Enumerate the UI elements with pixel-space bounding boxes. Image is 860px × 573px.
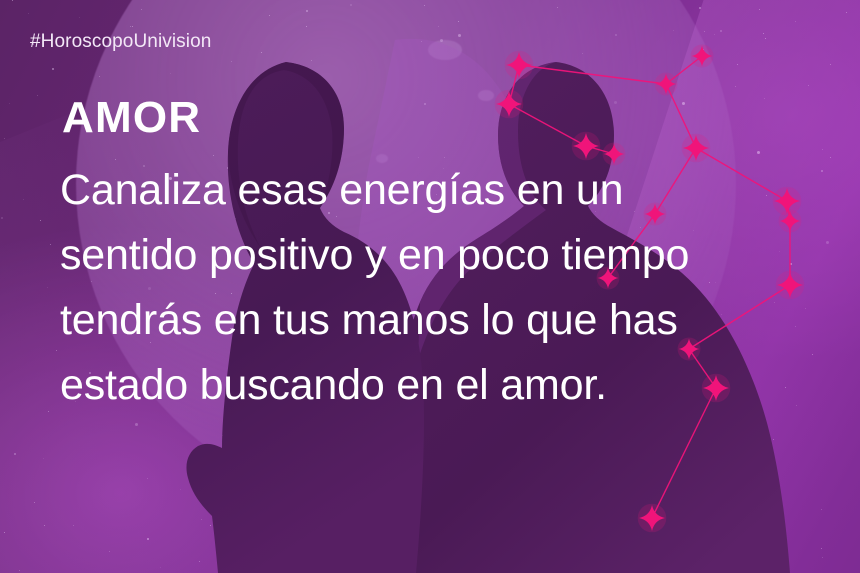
constellation-star [495, 90, 524, 119]
horoscope-body-line: sentido positivo y en poco tiempo [60, 223, 800, 288]
horoscope-body: Canaliza esas energías en unsentido posi… [60, 158, 800, 418]
page-title: AMOR [62, 96, 201, 140]
constellation-star [505, 51, 534, 80]
constellation-star [572, 132, 601, 161]
hashtag-label: #HoroscopoUnivision [30, 31, 211, 53]
constellation-line [519, 65, 666, 84]
constellation-star [638, 504, 667, 533]
constellation-star [691, 45, 714, 68]
horoscope-card: #HoroscopoUnivision AMOR Canaliza esas e… [0, 0, 860, 573]
constellation-star [655, 73, 678, 96]
horoscope-body-line: Canaliza esas energías en un [60, 158, 800, 223]
horoscope-body-line: estado buscando en el amor. [60, 353, 800, 418]
horoscope-body-line: tendrás en tus manos lo que has [60, 288, 800, 353]
